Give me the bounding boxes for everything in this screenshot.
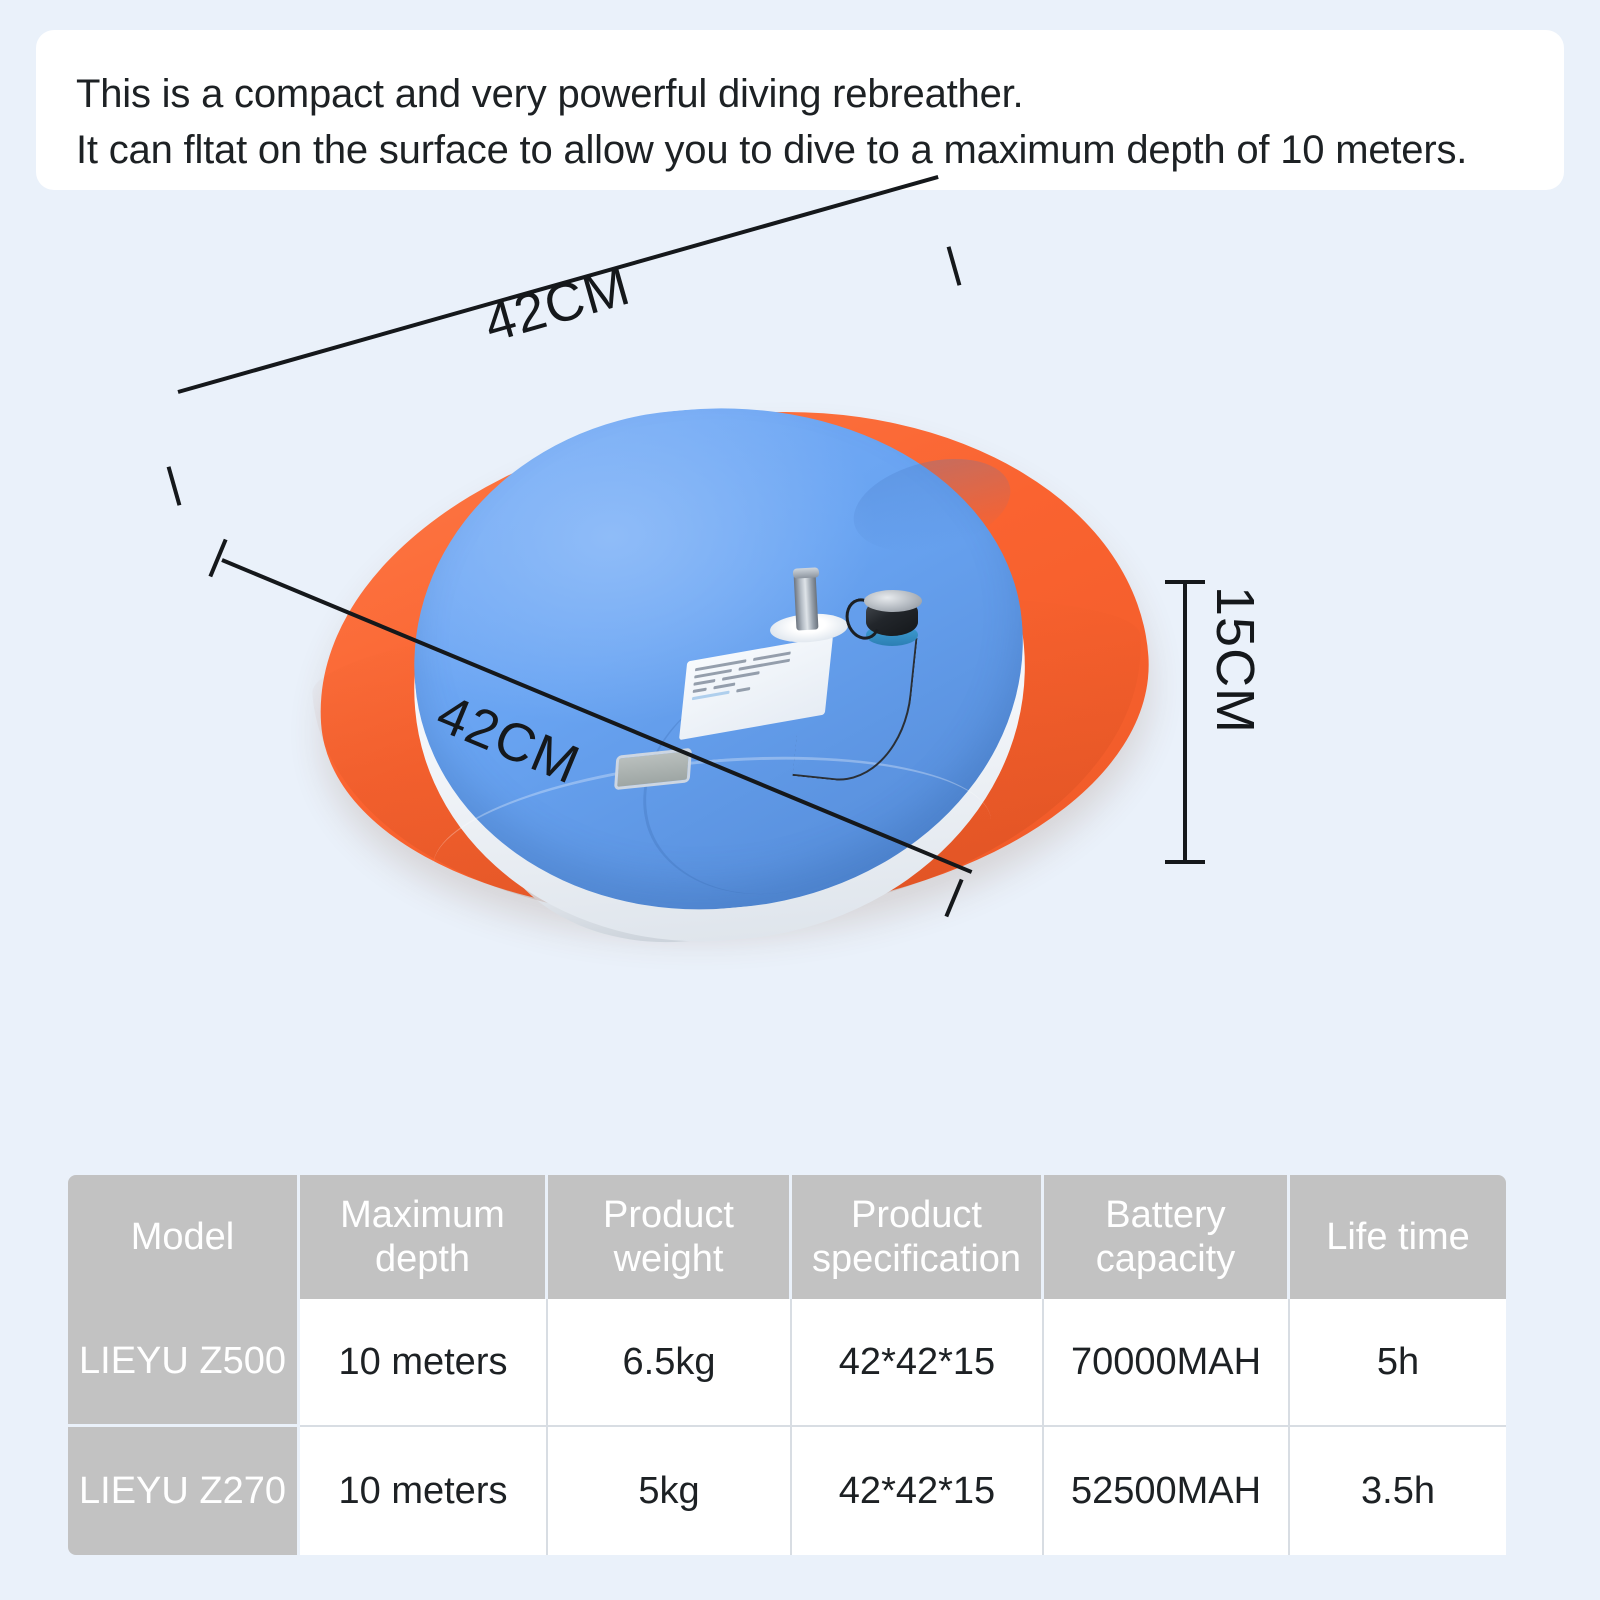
column-header-product-specification: Product specification: [792, 1175, 1044, 1299]
column-header-line: Battery: [1052, 1193, 1279, 1237]
description-card: This is a compact and very powerful divi…: [36, 30, 1564, 190]
table-row: LIEYU Z270 10 meters 5kg 42*42*15 52500M…: [68, 1427, 1506, 1555]
column-header-line: depth: [308, 1237, 537, 1281]
dimension-line: [1183, 582, 1187, 864]
product-photo: 42CM 42CM 15CM: [0, 200, 1600, 1140]
specification-table: Model Maximum depth Product weight Produ…: [68, 1175, 1506, 1555]
cell-maximum-depth: 10 meters: [300, 1427, 548, 1555]
column-header-line: capacity: [1052, 1237, 1279, 1281]
cell-model: LIEYU Z270: [68, 1427, 300, 1555]
cell-battery-capacity: 52500MAH: [1044, 1427, 1290, 1555]
product-infographic-page: This is a compact and very powerful divi…: [0, 0, 1600, 1600]
cell-life-time: 5h: [1290, 1299, 1506, 1427]
column-header-maximum-depth: Maximum depth: [300, 1175, 548, 1299]
dimension-endcap: [1165, 580, 1205, 584]
dimension-height-right: 15CM: [0, 200, 1600, 1140]
column-header-life-time: Life time: [1290, 1175, 1506, 1299]
column-header-product-weight: Product weight: [548, 1175, 792, 1299]
dimension-endcap: [1165, 860, 1205, 864]
column-header-line: Maximum: [308, 1193, 537, 1237]
cell-product-weight: 5kg: [548, 1427, 792, 1555]
table-row: LIEYU Z500 10 meters 6.5kg 42*42*15 7000…: [68, 1299, 1506, 1427]
table-header-row: Model Maximum depth Product weight Produ…: [68, 1175, 1506, 1299]
column-header-line: Product: [556, 1193, 781, 1237]
table-body: LIEYU Z500 10 meters 6.5kg 42*42*15 7000…: [68, 1299, 1506, 1555]
column-header-model: Model: [68, 1175, 300, 1299]
cell-maximum-depth: 10 meters: [300, 1299, 548, 1427]
cell-product-specification: 42*42*15: [792, 1299, 1044, 1427]
cell-life-time: 3.5h: [1290, 1427, 1506, 1555]
column-header-line: Product: [800, 1193, 1033, 1237]
description-line-1: This is a compact and very powerful divi…: [76, 74, 1023, 114]
column-header-line: Life time: [1298, 1215, 1498, 1259]
column-header-line: Model: [76, 1215, 289, 1259]
description-line-2: It can fltat on the surface to allow you…: [76, 130, 1467, 170]
cell-product-weight: 6.5kg: [548, 1299, 792, 1427]
column-header-line: specification: [800, 1237, 1033, 1281]
table-header: Model Maximum depth Product weight Produ…: [68, 1175, 1506, 1299]
column-header-line: weight: [556, 1237, 781, 1281]
cell-product-specification: 42*42*15: [792, 1427, 1044, 1555]
dimension-label-height-right: 15CM: [1204, 586, 1266, 734]
cell-model: LIEYU Z500: [68, 1299, 300, 1427]
cell-battery-capacity: 70000MAH: [1044, 1299, 1290, 1427]
column-header-battery-capacity: Battery capacity: [1044, 1175, 1290, 1299]
